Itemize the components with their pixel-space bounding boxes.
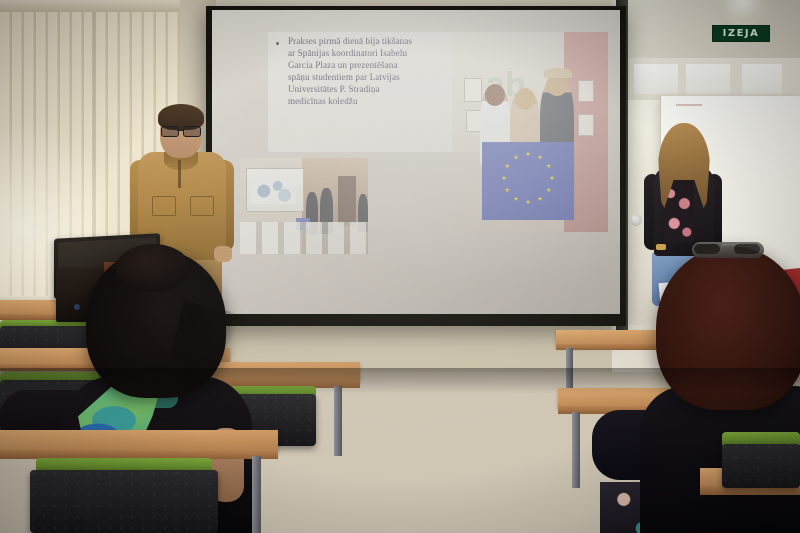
- eu-flag-stars: [482, 142, 574, 220]
- shirt-pocket: [190, 196, 214, 216]
- eu-star-icon: [538, 196, 543, 201]
- eu-star-icon: [538, 155, 543, 160]
- exit-sign: IZEJA: [712, 25, 770, 42]
- eu-star-icon: [502, 176, 507, 181]
- eu-star-icon: [546, 188, 551, 193]
- shirt-pocket: [152, 196, 176, 216]
- eu-star-icon: [526, 152, 531, 157]
- eu-star-icon: [505, 164, 510, 169]
- presentation-slide: Prakses pirmā dienā bija tikšanas ar Spā…: [212, 10, 620, 314]
- slide-bullet-icon: [276, 42, 279, 45]
- projection-screen: Prakses pirmā dienā bija tikšanas ar Spā…: [212, 10, 620, 314]
- slide-line: Garcia Plaza un prezentēšana: [288, 59, 454, 71]
- transom-pane: [634, 64, 678, 94]
- chair-backrest: [30, 470, 218, 533]
- eu-star-icon: [505, 188, 510, 193]
- eu-star-icon: [546, 164, 551, 169]
- slide-line: spāņu studentiem par Latvijas: [288, 71, 454, 83]
- slide-photo-eu-flag: ab: [452, 32, 608, 232]
- eu-star-icon: [514, 196, 519, 201]
- chair-backrest: [722, 444, 800, 488]
- hair-bun: [116, 244, 190, 292]
- photo-picture-frame: [578, 114, 594, 136]
- transom-pane: [742, 64, 782, 94]
- blinds-rail: [0, 0, 180, 12]
- whiteboard-marking: [676, 104, 702, 106]
- glasses-icon: [161, 126, 202, 135]
- photo-person-head: [485, 84, 505, 106]
- sunglasses-icon: [692, 242, 764, 258]
- shirt-placket: [178, 160, 181, 188]
- exit-sign-label: IZEJA: [723, 29, 760, 39]
- eu-star-icon: [514, 155, 519, 160]
- desk-leg: [572, 412, 580, 488]
- slide-line: ar Spānijas koordinatori Isabelu: [288, 47, 454, 59]
- floor-shadow: [0, 368, 800, 394]
- sunglasses-lens: [734, 244, 760, 254]
- photo-doorway: [338, 176, 356, 226]
- classroom-photo-scene: IZEJA Prakses pirmā dienā bija tikšanas …: [0, 0, 800, 533]
- eu-flag-icon: [482, 142, 574, 220]
- desk-surface: [0, 430, 278, 452]
- sunglasses-lens: [694, 244, 720, 254]
- photo-picture-frame: [578, 80, 594, 102]
- photo-chairs: [240, 222, 368, 254]
- slide-photo-hallway: [240, 158, 368, 254]
- desk-leg: [334, 386, 342, 456]
- photo-slide-map: [250, 178, 296, 204]
- eu-star-icon: [526, 200, 531, 205]
- photo-person-cap: [544, 68, 572, 78]
- slide-line: medicīnas koledžu: [288, 95, 454, 107]
- slide-line: Universitātes P. Stradiņa: [288, 83, 454, 95]
- slide-body-text: Prakses pirmā dienā bija tikšanas ar Spā…: [288, 35, 454, 108]
- eu-star-icon: [550, 176, 555, 181]
- transom-pane: [686, 64, 730, 94]
- photo-picture-frame: [464, 78, 482, 102]
- slide-line: Prakses pirmā dienā bija tikšanas: [288, 35, 454, 47]
- photo-person-head: [515, 88, 535, 110]
- desk-leg: [252, 456, 261, 533]
